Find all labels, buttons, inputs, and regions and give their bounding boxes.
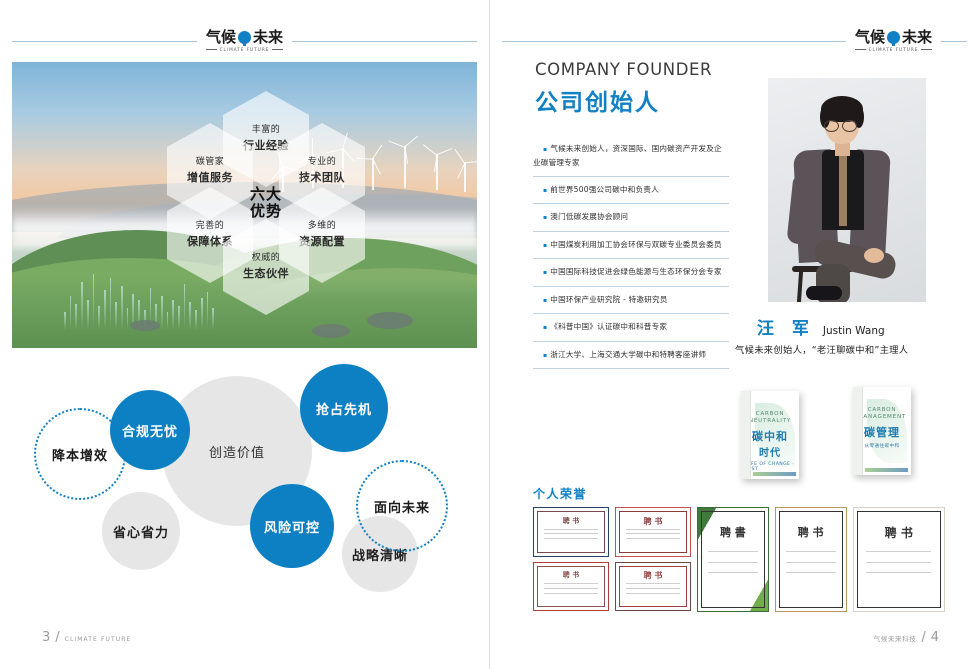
hexagon-line1: 多维的 <box>308 222 337 232</box>
glasses-right-lens <box>842 120 857 132</box>
left-footer-brand: CLIMATE FUTURE <box>65 636 132 643</box>
certificate-line-1 <box>626 529 679 530</box>
credential-text: 《科普中国》认证碳中和科普专家 <box>533 320 729 334</box>
certificates-gallery: 聘 书聘 书聘 书聘 书聘 書聘 书聘 书 <box>533 507 945 611</box>
certificate: 聘 书 <box>533 562 609 612</box>
left-footer-slash: / <box>55 630 59 645</box>
bubble-3: 抢占先机 <box>300 364 388 452</box>
certificate-line-1 <box>786 551 836 552</box>
right-footer-brand: 气候未来科技 <box>874 633 917 643</box>
certificate-title: 聘 书 <box>616 516 690 527</box>
certificate-line-2 <box>786 562 836 563</box>
hexagon-center-text: 六大优势 <box>250 186 282 221</box>
certificate-line-2 <box>708 562 758 563</box>
certificate-line-3 <box>866 572 931 573</box>
certificate-line-2 <box>544 533 597 534</box>
brand-logo-right: 气候 未来 CLIMATE FUTURE <box>846 30 941 52</box>
glasses-left-lens <box>824 120 839 132</box>
brand-logo-left: 气候 未来 CLIMATE FUTURE <box>197 30 292 52</box>
founder-role: 气候未来创始人，“老汪聊碳中和”主理人 <box>735 342 908 356</box>
certificate-line-1 <box>708 551 758 552</box>
credential-text: 中国国际科技促进会绿色能源与生态环保分会专家 <box>533 265 729 279</box>
logo-sub-rule-right-r <box>921 49 932 50</box>
certificate: 聘 书 <box>533 507 609 557</box>
certificate-column: 聘 书聘 书 <box>533 507 609 611</box>
credential-item: 前世界500强公司碳中和负责人 <box>533 177 729 205</box>
logo-sub-rule-left <box>206 49 217 50</box>
credential-text: 浙江大学、上海交通大学碳中和特聘客座讲师 <box>533 348 729 362</box>
credential-item: 《科普中国》认证碳中和科普专家 <box>533 314 729 342</box>
header-rule-right <box>292 41 477 42</box>
certificate-line-3 <box>626 538 679 539</box>
left-page-header: 气候 未来 CLIMATE FUTURE <box>12 26 477 56</box>
globe-icon-right <box>887 31 900 44</box>
certificate-line-3 <box>544 538 597 539</box>
header-rule-right-2 <box>941 41 967 42</box>
hexagon-diagram: 丰富的行业经验专业的技术团队碳管家增值服务完善的保障体系多维的资源配置权威的生态… <box>12 62 477 348</box>
credential-item: 中国国际科技促进会绿色能源与生态环保分会专家 <box>533 259 729 287</box>
certificate-line-2 <box>626 533 679 534</box>
credential-text: 中国煤炭利用加工协会环保与双碳专业委员会委员 <box>533 238 729 252</box>
bubble-6: 面向未来 <box>356 460 448 552</box>
globe-icon <box>238 31 251 44</box>
bubble-label: 抢占先机 <box>316 399 372 418</box>
left-page-number: 3 <box>42 630 50 645</box>
certificate-line-3 <box>708 572 758 573</box>
book-cover-2: CARBONMANAGEMENT碳管理从零通往碳中和 <box>853 387 911 475</box>
credential-item: 中国煤炭利用加工协会环保与双碳专业委员会委员 <box>533 232 729 260</box>
book-publisher-bar <box>753 472 796 476</box>
book-publisher-bar <box>865 468 908 472</box>
hexagon-line1: 丰富的 <box>252 126 281 136</box>
credential-text: 气候未来创始人，资深国际、国内碳资产开发及企业碳管理专家 <box>533 142 729 169</box>
certificate-title: 聘 書 <box>698 524 768 540</box>
certificate-title: 聘 书 <box>854 524 944 541</box>
credential-item: 气候未来创始人，资深国际、国内碳资产开发及企业碳管理专家 <box>533 140 729 177</box>
hexagon-line1: 碳管家 <box>196 158 225 168</box>
certificate-line-3 <box>626 593 679 594</box>
bubble-label: 面向未来 <box>374 497 430 516</box>
certificate-line-3 <box>786 572 836 573</box>
certificate-title: 聘 书 <box>776 524 846 540</box>
hero-image-landscape: 丰富的行业经验专业的技术团队碳管家增值服务完善的保障体系多维的资源配置权威的生态… <box>12 62 477 348</box>
brochure-spread: 气候 未来 CLIMATE FUTURE 丰富的行业经验专业的技术团队碳管家增 <box>0 0 979 669</box>
logo-wordmark: 气候 未来 <box>206 30 283 45</box>
necktie <box>839 152 847 226</box>
right-page-header: 气候 未来 CLIMATE FUTURE <box>502 26 967 56</box>
certificate-line-2 <box>544 588 597 589</box>
hexagon-line1: 专业的 <box>308 158 337 168</box>
certificate-title: 聘 书 <box>534 516 608 526</box>
certificate-line-1 <box>544 529 597 530</box>
hexagon-line1: 权威的 <box>252 254 281 264</box>
logo-subline: CLIMATE FUTURE <box>206 47 283 52</box>
logo-sub-text: CLIMATE FUTURE <box>220 47 270 52</box>
founder-portrait-photo <box>768 78 926 302</box>
logo-sub-rule-left-r <box>855 49 866 50</box>
certificate-tall: 聘 书 <box>853 507 945 612</box>
logo-text-weilai: 未来 <box>253 30 283 45</box>
certificate-tall: 聘 書 <box>697 507 769 612</box>
credential-text: 澳门低碳发展协会顾问 <box>533 210 729 224</box>
founder-name-en: Justin Wang <box>823 325 885 337</box>
book-spine <box>853 387 863 475</box>
bubble-label: 省心省力 <box>113 522 169 541</box>
bubble-diagram: 创造价值合规无忧抢占先机风险可控降本增效面向未来省心省力战略清晰 <box>12 356 477 624</box>
credential-text: 前世界500强公司碳中和负责人 <box>533 183 729 197</box>
bubble-4: 风险可控 <box>250 484 334 568</box>
right-footer-slash: / <box>921 630 925 645</box>
right-page-footer: 气候未来科技 / 4 <box>874 630 939 645</box>
logo-wordmark-right: 气候 未来 <box>855 30 932 45</box>
hand <box>864 248 884 263</box>
logo-text-qihou: 气候 <box>206 30 236 45</box>
book-spine <box>741 391 751 479</box>
certificate-line-1 <box>866 551 931 552</box>
founder-name-cn: 汪 军 <box>757 314 815 339</box>
left-page-footer: 3 / CLIMATE FUTURE <box>42 630 131 645</box>
certificate-line-1 <box>544 583 597 584</box>
header-rule-left <box>12 41 197 42</box>
certificate-title: 聘 书 <box>534 570 608 580</box>
logo-text-qihou-right: 气候 <box>855 30 885 45</box>
right-page-number: 4 <box>931 630 939 645</box>
logo-sub-rule-right <box>272 49 283 50</box>
logo-text-weilai-right: 未来 <box>902 30 932 45</box>
logo-subline-right: CLIMATE FUTURE <box>855 47 932 52</box>
section-title-cn: 公司创始人 <box>535 83 660 117</box>
bubble-label: 降本增效 <box>52 445 108 464</box>
certificate-line-3 <box>544 593 597 594</box>
hexagon-line1: 完善的 <box>196 222 225 232</box>
credential-item: 中国环保产业研究院 - 特邀研究员 <box>533 287 729 315</box>
founder-credentials-list: 气候未来创始人，资深国际、国内碳资产开发及企业碳管理专家前世界500强公司碳中和… <box>533 140 729 369</box>
certificate-column: 聘 书聘 书 <box>615 507 691 611</box>
bubble-label: 风险可控 <box>264 517 320 536</box>
founder-name-row: 汪 军 Justin Wang <box>757 314 885 339</box>
logo-sub-text-right: CLIMATE FUTURE <box>869 47 919 52</box>
published-books: CARBONNEUTRALITY碳中和时代A LIFE OF CHANGE · … <box>735 385 945 485</box>
header-rule-right-1 <box>502 41 846 42</box>
bubble-label: 创造价值 <box>209 442 265 461</box>
bubble-7: 省心省力 <box>102 492 180 570</box>
bubble-2: 合规无忧 <box>110 390 190 470</box>
bubble-label: 合规无忧 <box>122 421 178 440</box>
certificate-line-2 <box>626 588 679 589</box>
certificate-line-2 <box>866 562 931 563</box>
page-spine-divider <box>489 0 490 669</box>
certificate: 聘 书 <box>615 562 691 612</box>
credential-item: 浙江大学、上海交通大学碳中和特聘客座讲师 <box>533 342 729 370</box>
certificate-title: 聘 书 <box>616 570 690 581</box>
certificate-tall: 聘 书 <box>775 507 847 612</box>
certificate-line-1 <box>626 583 679 584</box>
hexagon-line2: 生态伙伴 <box>243 268 289 280</box>
section-title-en: COMPANY FOUNDER <box>535 60 712 79</box>
certificate: 聘 书 <box>615 507 691 557</box>
credential-text: 中国环保产业研究院 - 特邀研究员 <box>533 293 729 307</box>
shoe <box>806 286 842 300</box>
credential-item: 澳门低碳发展协会顾问 <box>533 204 729 232</box>
book-cover-1: CARBONNEUTRALITY碳中和时代A LIFE OF CHANGE · … <box>741 391 799 479</box>
honors-section-title: 个人荣誉 <box>533 485 587 502</box>
